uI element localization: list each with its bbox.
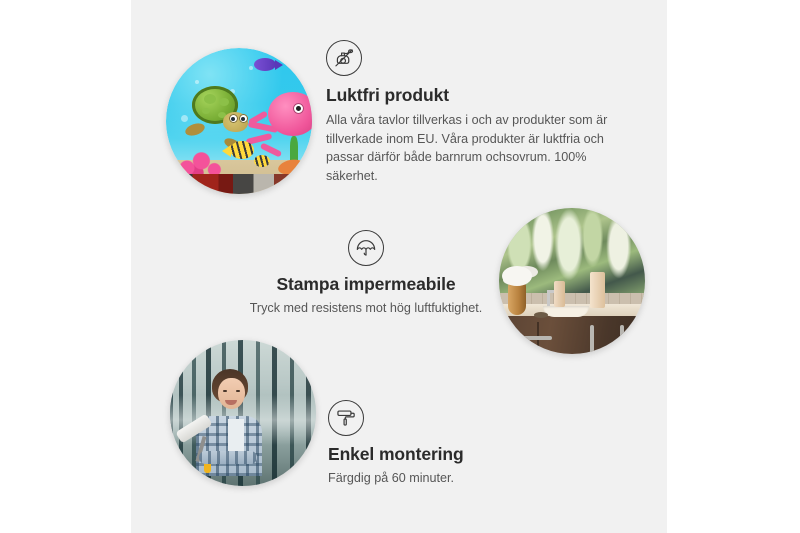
bubble-icon xyxy=(249,66,253,70)
bubble-icon xyxy=(181,115,188,122)
soap-dish xyxy=(534,312,548,318)
seaweed-icon xyxy=(290,136,298,162)
eye xyxy=(236,390,240,392)
photo-band xyxy=(166,174,312,194)
feature-body: Tryck med resistens mot hög luftfuktighe… xyxy=(216,299,516,318)
feature-body: Alla våra tavlor tillverkas i och av pro… xyxy=(326,111,616,186)
feature-body: Färgdig på 60 minuter. xyxy=(328,469,608,488)
feature-odour-free: Luktfri produkt Alla våra tavlor tillver… xyxy=(326,40,626,185)
bathroom-artwork xyxy=(499,208,645,354)
purple-fish-icon xyxy=(254,58,276,71)
sink-basin xyxy=(543,306,589,317)
feature-title: Enkel montering xyxy=(328,444,608,466)
turtle-eye xyxy=(239,114,248,123)
cabinet-handle xyxy=(590,325,594,353)
coral-icon xyxy=(175,136,223,176)
yellow-fish-icon xyxy=(230,141,254,159)
product-feature-banner: Luktfri produkt Alla våra tavlor tillver… xyxy=(0,0,800,533)
cabinet-handle xyxy=(620,325,624,351)
feature-waterproof-print: Stampa impermeabile Tryck med resistens … xyxy=(216,230,516,318)
octopus-head xyxy=(268,92,312,136)
turtle-eye xyxy=(229,114,238,123)
paint-roller-icon xyxy=(328,400,364,436)
drawer-handle xyxy=(522,336,552,340)
bottle xyxy=(554,281,565,307)
image-underwater-cartoon xyxy=(166,48,312,194)
bubble-icon xyxy=(195,80,199,84)
underwater-artwork xyxy=(166,48,312,194)
feature-panel: Luktfri produkt Alla våra tavlor tillver… xyxy=(131,0,667,533)
image-bathroom-vanity xyxy=(499,208,645,354)
feature-title: Stampa impermeabile xyxy=(216,274,516,296)
image-woman-paint-roller xyxy=(170,340,316,486)
umbrella-icon xyxy=(348,230,384,266)
forest-mural-artwork xyxy=(170,340,316,486)
eye xyxy=(223,390,227,392)
feature-title: Luktfri produkt xyxy=(326,85,626,107)
faucet-icon xyxy=(547,290,550,306)
crossed-arms xyxy=(199,451,257,464)
feature-easy-mounting: Enkel montering Färgdig på 60 minuter. xyxy=(328,400,608,488)
yellow-fish-icon xyxy=(254,155,270,167)
no-odour-spray-bottle-icon xyxy=(326,40,362,76)
bottle xyxy=(590,272,605,308)
